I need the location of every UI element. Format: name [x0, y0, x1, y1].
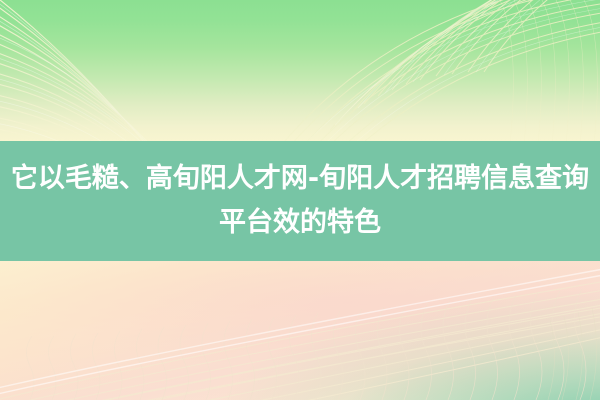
- title-line-2: 平台效的特色: [219, 201, 381, 245]
- background-green-corner: [0, 261, 600, 400]
- banner-canvas: 它以毛糙、高旬阳人才网-旬阳人才招聘信息查询 平台效的特色: [0, 0, 600, 400]
- background-top-gradient: [0, 0, 600, 141]
- title-line-1: 它以毛糙、高旬阳人才网-旬阳人才招聘信息查询: [11, 157, 589, 201]
- title-banner: 它以毛糙、高旬阳人才网-旬阳人才招聘信息查询 平台效的特色: [0, 141, 600, 261]
